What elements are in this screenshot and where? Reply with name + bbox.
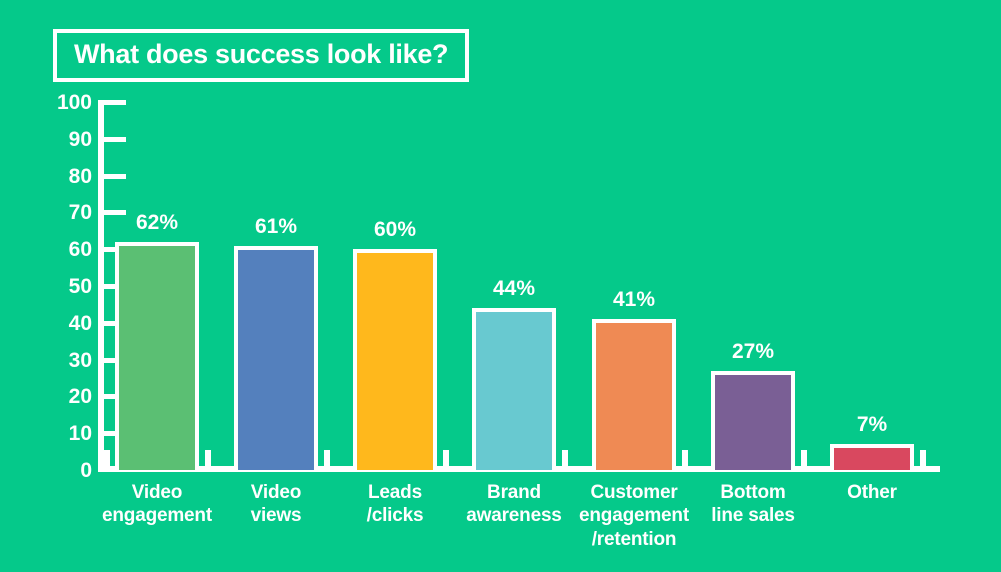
category-label-line: Other <box>797 481 947 504</box>
x-axis-tick <box>324 450 330 466</box>
x-axis-tick <box>104 450 110 466</box>
y-axis-tick-label: 50 <box>40 276 92 297</box>
y-axis-tick-label: 10 <box>40 423 92 444</box>
bar[interactable] <box>472 308 556 470</box>
bar-chart: 1009080706050403020100 62%61%60%44%41%27… <box>0 0 1001 572</box>
bar-value-label: 27% <box>711 341 795 362</box>
y-axis-tick-label: 20 <box>40 386 92 407</box>
bar[interactable] <box>592 319 676 470</box>
bar-value-label: 44% <box>472 278 556 299</box>
y-axis-tick-label: 0 <box>40 460 92 481</box>
y-axis-tick-label: 90 <box>40 129 92 150</box>
y-axis-tick <box>104 137 126 142</box>
y-axis-tick-label: 100 <box>40 92 92 113</box>
y-axis-tick-label: 70 <box>40 202 92 223</box>
y-axis-tick <box>104 174 126 179</box>
x-axis-tick <box>920 450 926 466</box>
bar-value-label: 41% <box>592 289 676 310</box>
x-axis-tick <box>562 450 568 466</box>
category-label-line: /retention <box>559 528 709 551</box>
bar-value-label: 60% <box>353 219 437 240</box>
bar[interactable] <box>115 242 199 470</box>
bar-value-label: 62% <box>115 212 199 233</box>
bar[interactable] <box>711 371 795 470</box>
y-axis-tick-label: 60 <box>40 239 92 260</box>
category-label-line: line sales <box>678 504 828 527</box>
bar-value-label: 7% <box>830 414 914 435</box>
bar-value-label: 61% <box>234 216 318 237</box>
bar[interactable] <box>830 444 914 470</box>
x-axis-tick <box>205 450 211 466</box>
x-axis-category-label: Other <box>797 481 947 504</box>
y-axis-tick-label: 40 <box>40 313 92 334</box>
y-axis-tick-label: 30 <box>40 350 92 371</box>
y-axis-tick-label: 80 <box>40 166 92 187</box>
x-axis-tick <box>682 450 688 466</box>
x-axis-tick <box>443 450 449 466</box>
bar[interactable] <box>353 249 437 470</box>
y-axis-tick <box>104 100 126 105</box>
x-axis-tick <box>801 450 807 466</box>
bar[interactable] <box>234 246 318 470</box>
